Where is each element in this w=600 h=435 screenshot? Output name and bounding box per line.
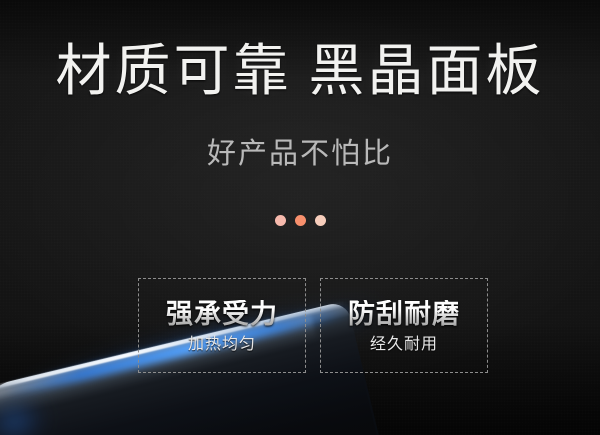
feature-title: 强承受力: [166, 300, 278, 328]
feature-box-group: 强承受力 加热均匀 防刮耐磨 经久耐用: [138, 278, 488, 373]
feature-box-strength: 强承受力 加热均匀: [138, 278, 306, 373]
dot-1-icon: [275, 215, 286, 226]
feature-subtitle: 经久耐用: [370, 337, 438, 353]
product-feature-banner: 材质可靠 黑晶面板 好产品不怕比 强承受力 加热均匀 防刮耐磨 经久耐用: [0, 0, 600, 435]
page-title: 材质可靠 黑晶面板: [0, 44, 600, 100]
feature-title: 防刮耐磨: [348, 300, 460, 328]
feature-subtitle: 加热均匀: [188, 337, 256, 353]
dot-3-icon: [315, 215, 326, 226]
feature-box-scratch-resistance: 防刮耐磨 经久耐用: [320, 278, 488, 373]
decorative-dots: [0, 215, 600, 226]
page-subtitle: 好产品不怕比: [0, 140, 600, 169]
dot-2-icon: [295, 215, 306, 226]
